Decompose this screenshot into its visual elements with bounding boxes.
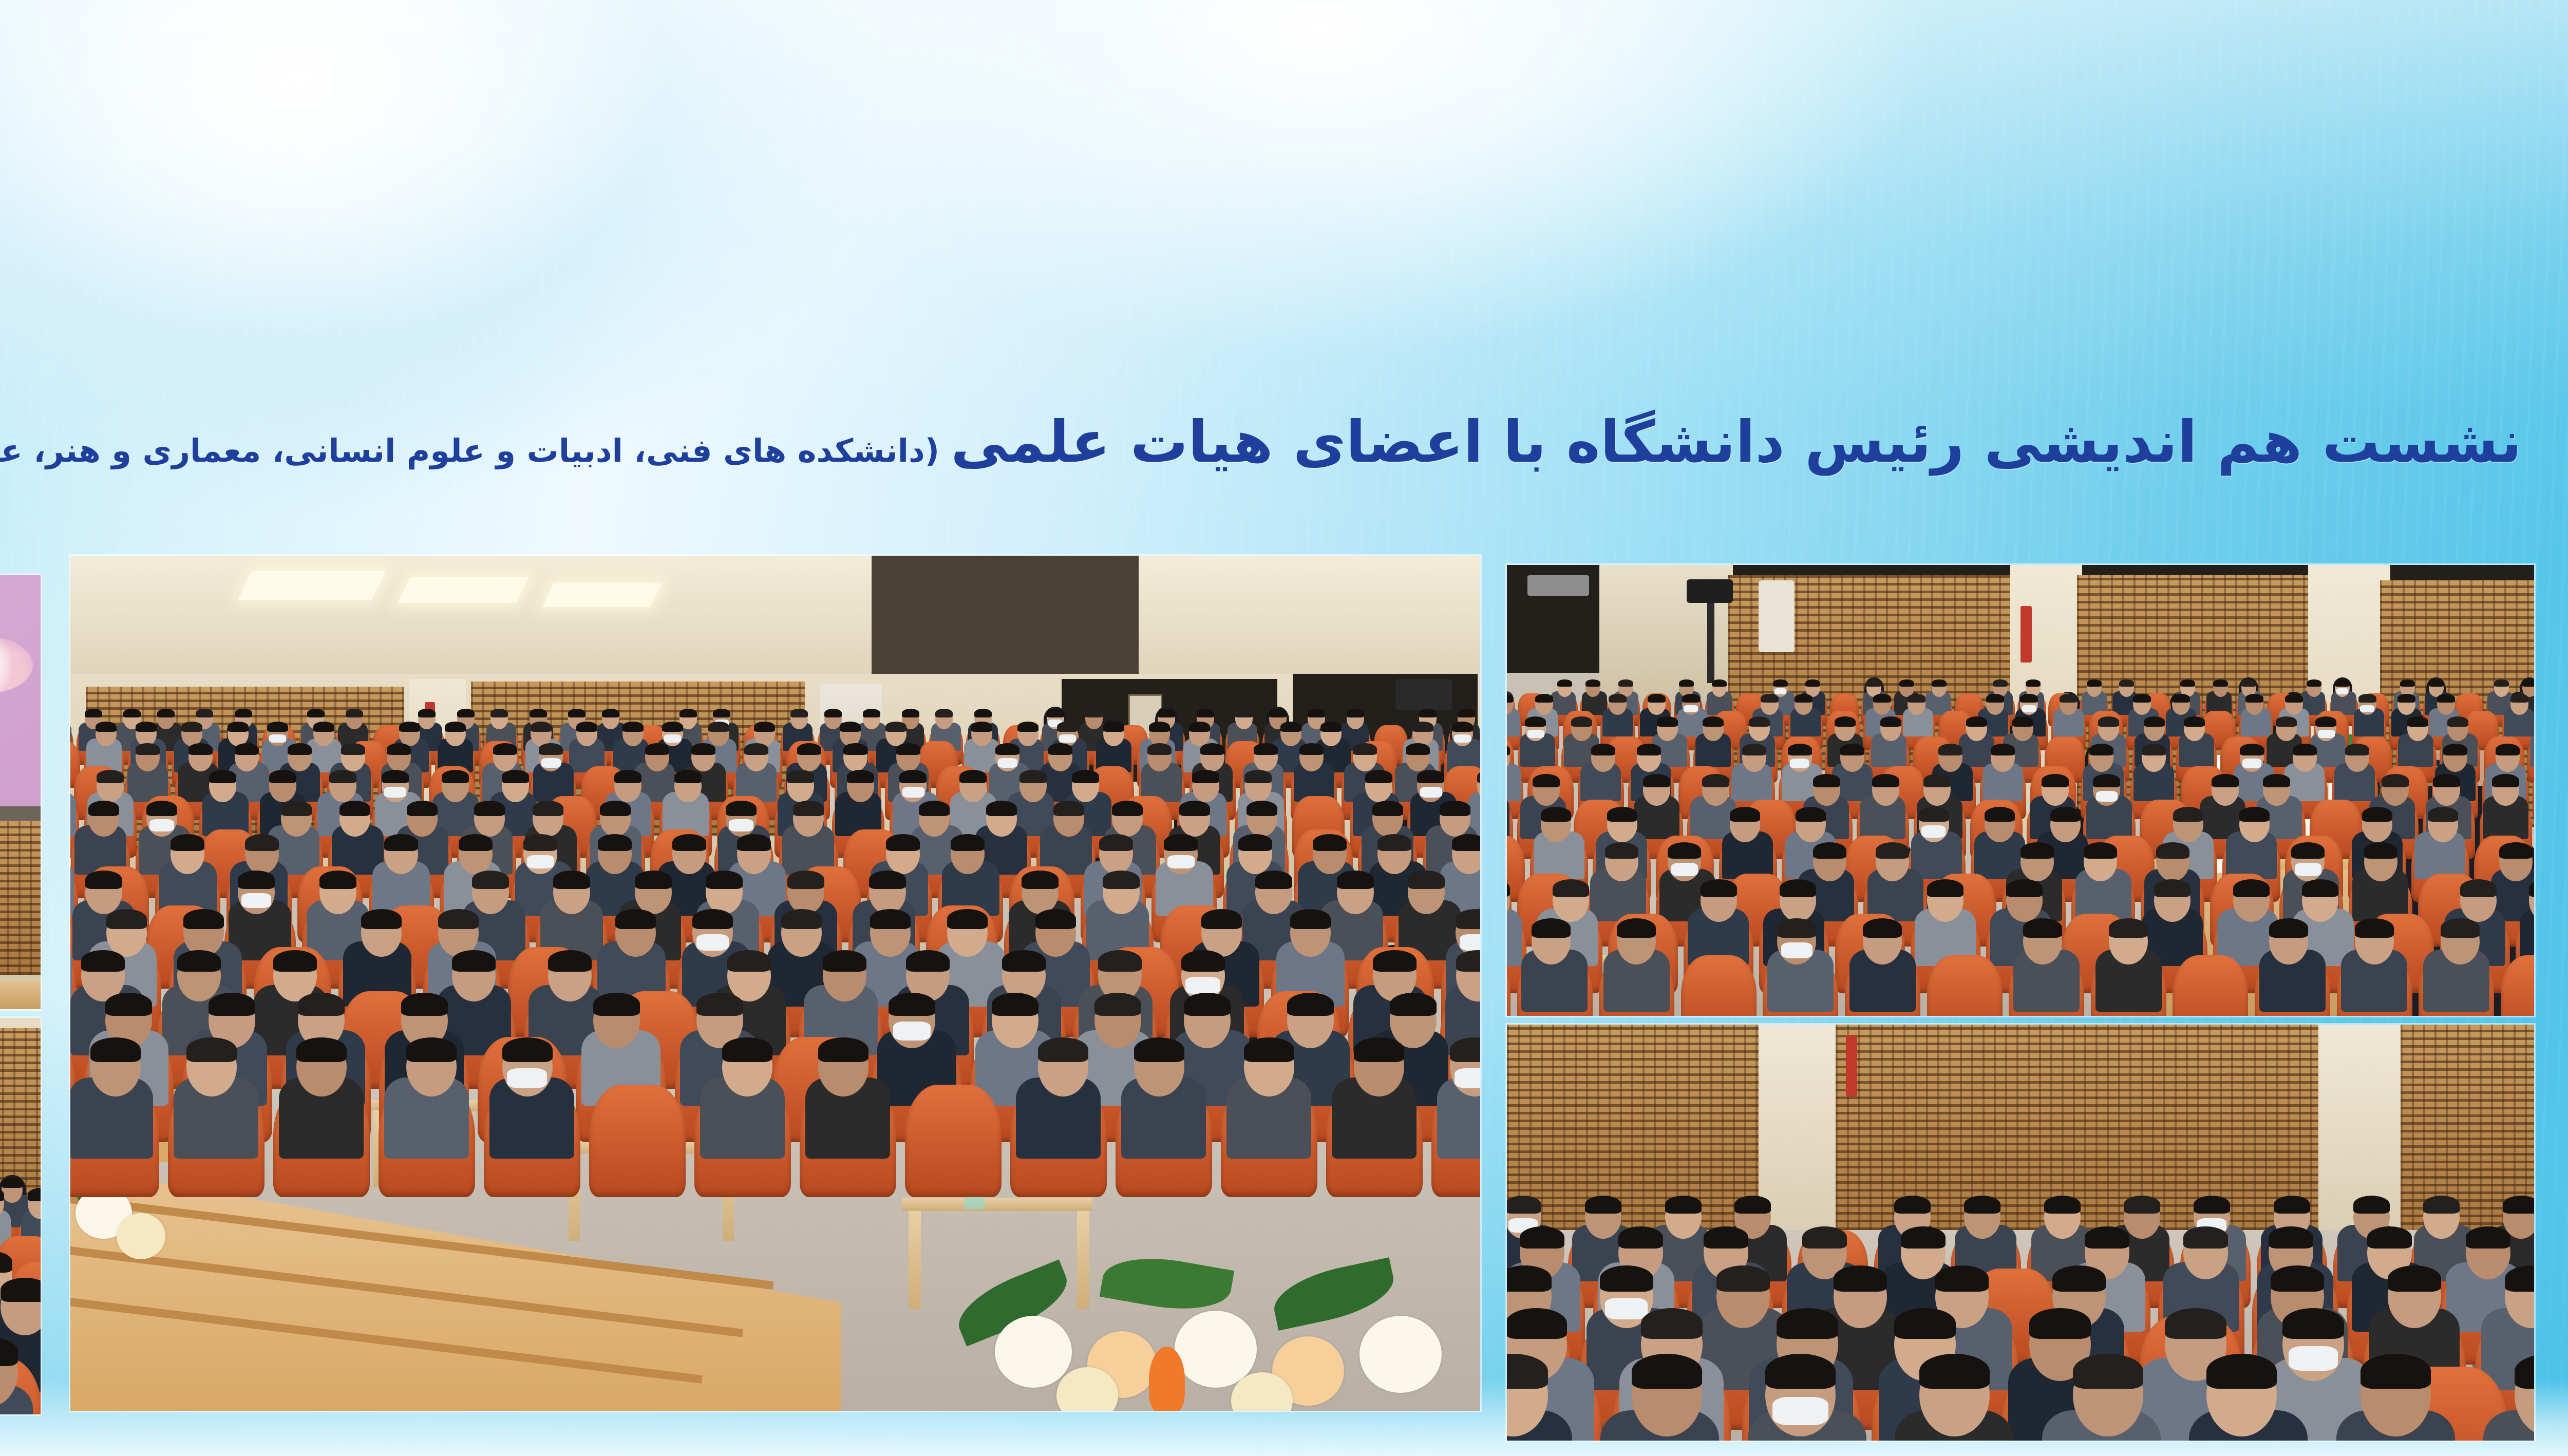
event-banner: دانشگاه گیلان روابط عمومی دانشگاه گیلان … <box>0 0 2568 1456</box>
photo-right-top: نمای سالن از سمت تریبون با سخنران در سمت… <box>1507 565 2534 1016</box>
photo-grid: رئیس دانشگاه پشت تریبون در حال سخنرانی ک… <box>0 0 2568 1456</box>
photo-left-bottom: نمای جانبی از حاضران نشسته در سالن همایش <box>0 1018 41 1414</box>
photo-right-bottom: نمای نزدیک از اعضای هیات علمی حاضر در نش… <box>1507 1025 2534 1441</box>
photo-center: نمای کلی سالن همایش و اعضای هیات علمی حا… <box>70 556 1480 1411</box>
photo-left-top: رئیس دانشگاه پشت تریبون در حال سخنرانی ک… <box>0 575 41 1009</box>
